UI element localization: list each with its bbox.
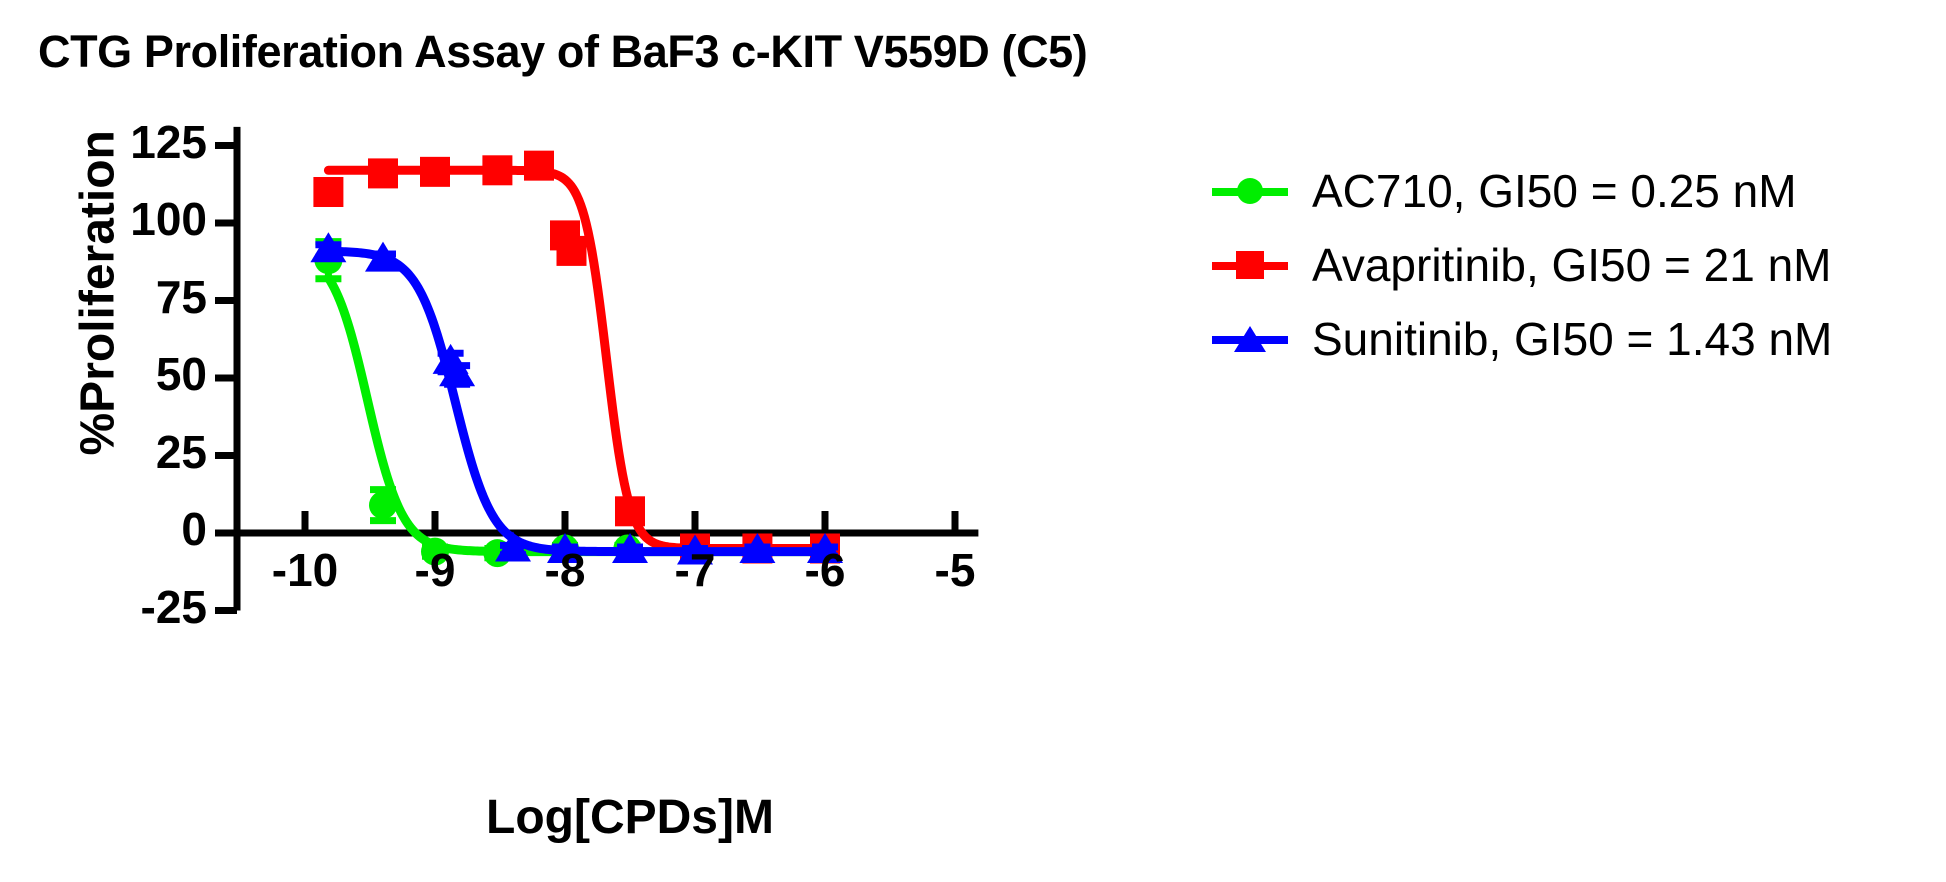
legend-marker-square-icon (1212, 245, 1288, 285)
legend-item-ac710[interactable]: AC710, GI50 = 0.25 nM (1212, 160, 1832, 222)
x-tick-label: -7 (635, 543, 755, 597)
legend-item-sunitinib[interactable]: Sunitinib, GI50 = 1.43 nM (1212, 308, 1832, 370)
y-tick-label: 50 (77, 347, 207, 401)
x-tick-label: -5 (895, 543, 1015, 597)
y-tick-label: 75 (77, 270, 207, 324)
x-tick-label: -10 (245, 543, 365, 597)
plot-area (0, 0, 1946, 882)
series-ac710 (314, 242, 839, 568)
chart-canvas: CTG Proliferation Assay of BaF3 c-KIT V5… (0, 0, 1946, 882)
legend-item-avapritinib[interactable]: Avapritinib, GI50 = 21 nM (1212, 234, 1832, 296)
y-tick-label: 0 (77, 502, 207, 556)
x-axis-label: Log[CPDs]M (330, 790, 930, 845)
legend-marker-triangle-icon (1212, 319, 1288, 359)
y-tick-label: 125 (77, 115, 207, 169)
y-tick-label: 25 (77, 425, 207, 479)
y-tick-label: 100 (77, 192, 207, 246)
x-tick-label: -8 (505, 543, 625, 597)
legend-marker-circle-icon (1212, 171, 1288, 211)
legend-label-avapritinib: Avapritinib, GI50 = 21 nM (1312, 238, 1832, 292)
legend-label-sunitinib: Sunitinib, GI50 = 1.43 nM (1312, 312, 1832, 366)
legend-label-ac710: AC710, GI50 = 0.25 nM (1312, 164, 1797, 218)
y-tick-label: -25 (77, 580, 207, 634)
chart-legend: AC710, GI50 = 0.25 nM Avapritinib, GI50 … (1212, 160, 1832, 382)
x-tick-label: -6 (765, 543, 885, 597)
x-tick-label: -9 (375, 543, 495, 597)
